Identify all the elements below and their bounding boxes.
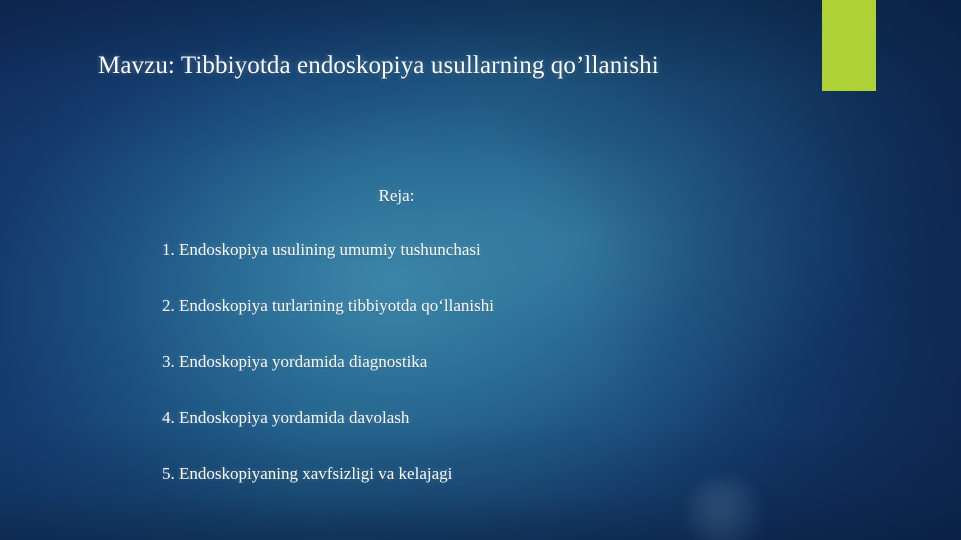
agenda-heading: Reja: <box>0 186 793 206</box>
presentation-slide: Mavzu: Tibbiyotda endoskopiya usullarnin… <box>0 0 961 540</box>
accent-rectangle <box>822 0 876 91</box>
agenda-list-item: 1. Endoskopiya usulining umumiy tushunch… <box>162 241 494 258</box>
slide-title: Mavzu: Tibbiyotda endoskopiya usullarnin… <box>98 50 659 81</box>
agenda-list-item: 3. Endoskopiya yordamida diagnostika <box>162 353 494 370</box>
agenda-list-item: 4. Endoskopiya yordamida davolash <box>162 409 494 426</box>
agenda-list-item: 2. Endoskopiya turlarining tibbiyotda qo… <box>162 297 494 314</box>
agenda-list-item: 5. Endoskopiyaning xavfsizligi va kelaja… <box>162 465 494 482</box>
agenda-list: 1. Endoskopiya usulining umumiy tushunch… <box>162 241 494 482</box>
